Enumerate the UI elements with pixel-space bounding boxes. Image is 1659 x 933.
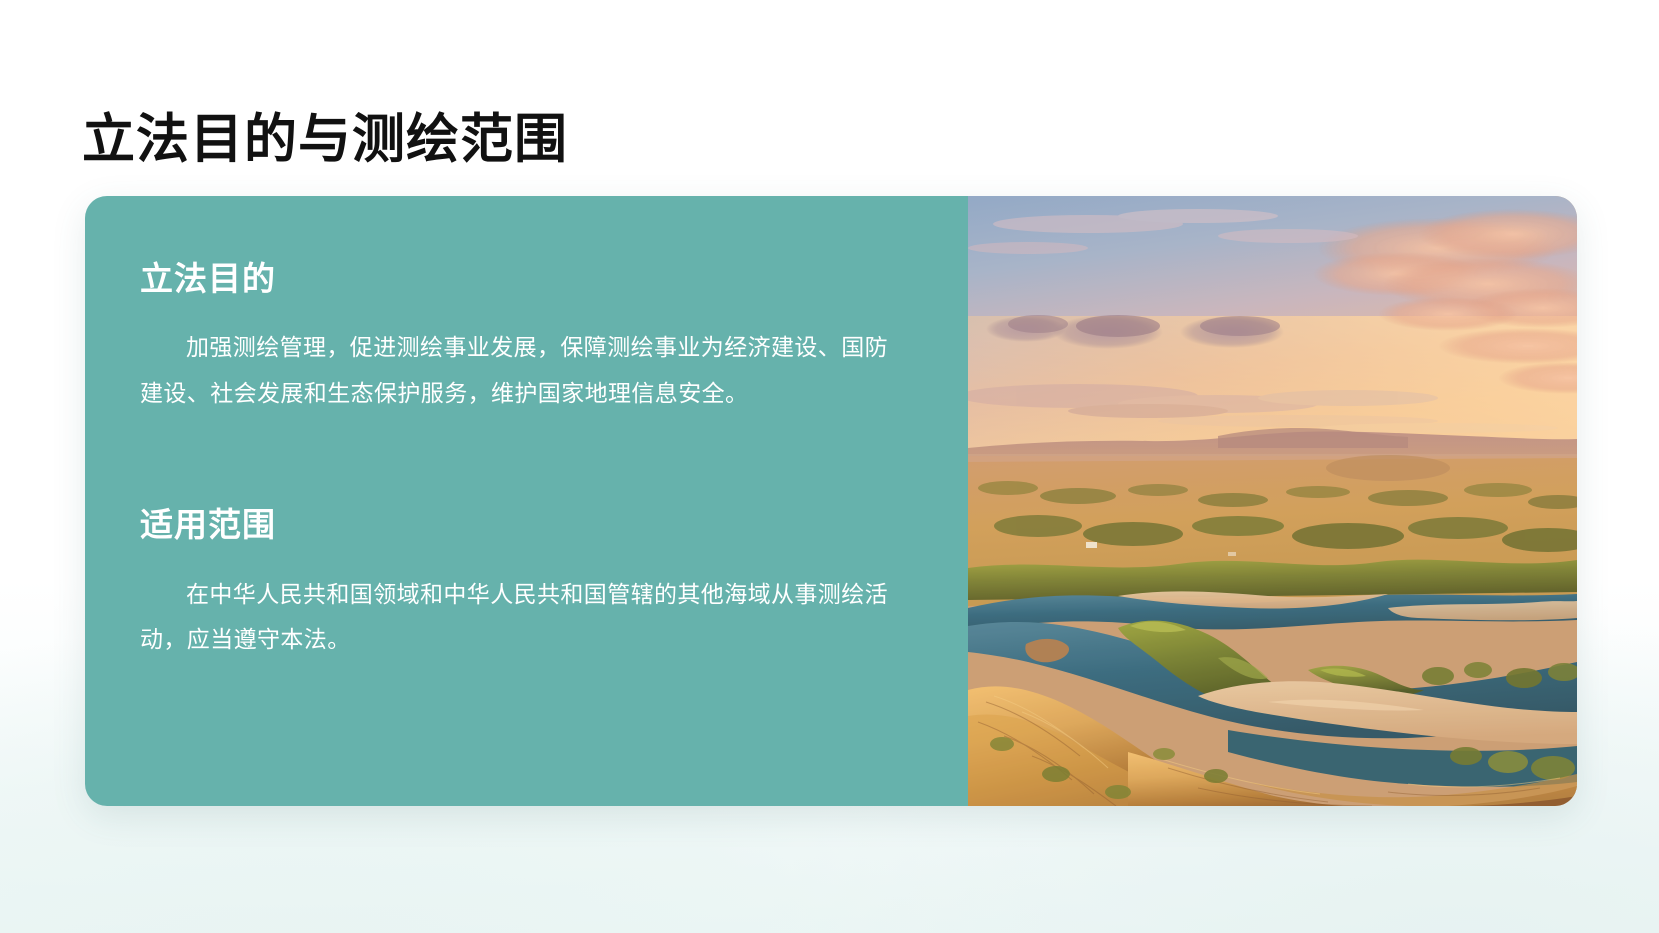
section-heading-legislative-purpose: 立法目的 bbox=[140, 258, 908, 299]
landscape-photo-canvas bbox=[968, 196, 1577, 806]
section-body-legislative-purpose: 加强测绘管理，促进测绘事业发展，保障测绘事业为经济建设、国防建设、社会发展和生态… bbox=[140, 325, 908, 416]
section-legislative-purpose: 立法目的 加强测绘管理，促进测绘事业发展，保障测绘事业为经济建设、国防建设、社会… bbox=[140, 258, 908, 416]
section-body-scope-of-application: 在中华人民共和国领域和中华人民共和国管辖的其他海域从事测绘活动，应当遵守本法。 bbox=[140, 572, 908, 663]
slide: 立法目的与测绘范围 立法目的 加强测绘管理，促进测绘事业发展，保障测绘事业为经济… bbox=[0, 0, 1659, 933]
section-scope-of-application: 适用范围 在中华人民共和国领域和中华人民共和国管辖的其他海域从事测绘活动，应当遵… bbox=[140, 504, 908, 662]
content-card: 立法目的 加强测绘管理，促进测绘事业发展，保障测绘事业为经济建设、国防建设、社会… bbox=[85, 196, 1577, 806]
card-text-panel: 立法目的 加强测绘管理，促进测绘事业发展，保障测绘事业为经济建设、国防建设、社会… bbox=[85, 196, 968, 806]
section-heading-scope-of-application: 适用范围 bbox=[140, 504, 908, 545]
page-title: 立法目的与测绘范围 bbox=[82, 110, 568, 171]
landscape-photo: 日落时分的河谷航拍风光：粉橙色晚霞云层、远山、金黄色平原、蜿蜒河流与沙洲、前景风… bbox=[968, 196, 1577, 806]
